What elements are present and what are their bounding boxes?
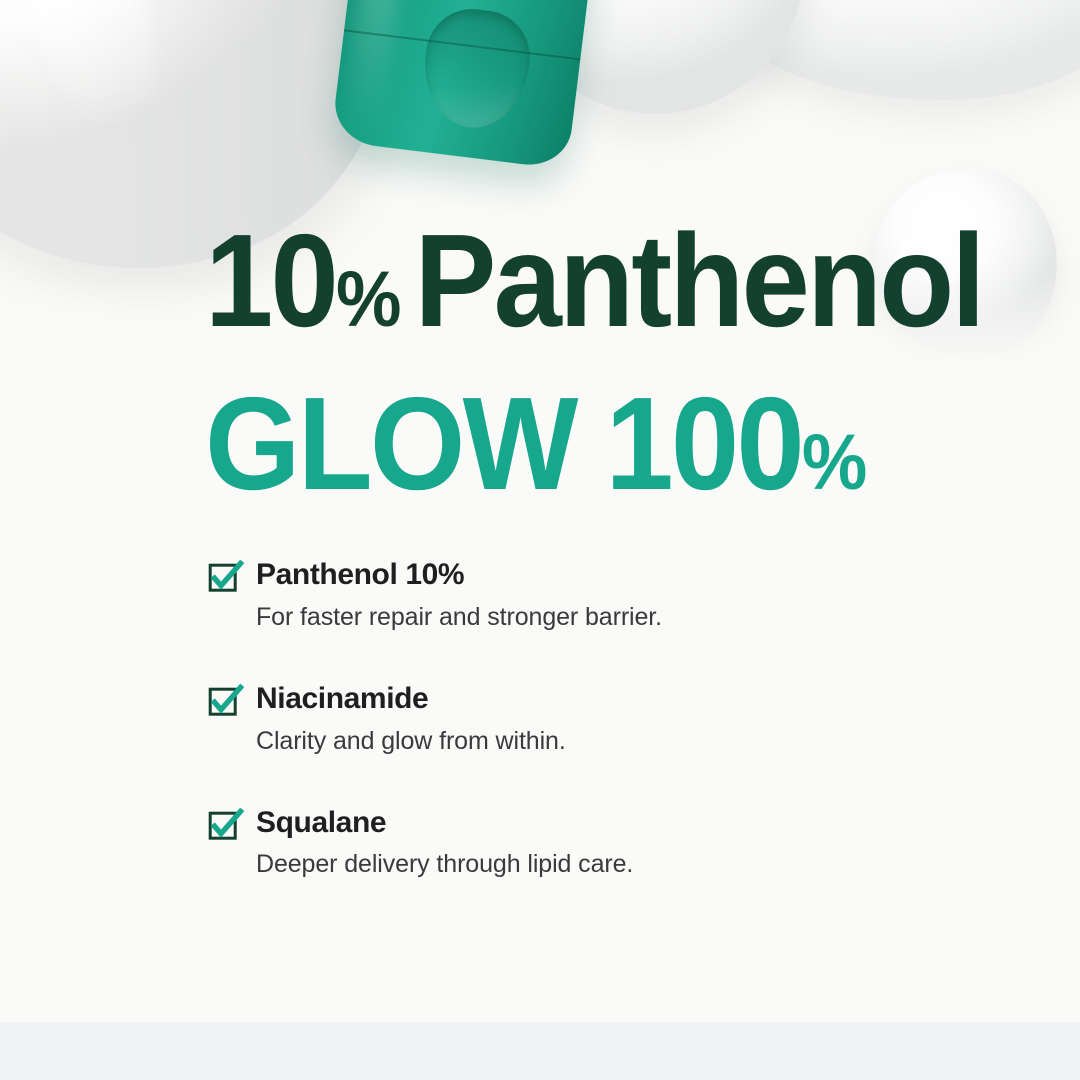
cap-thumb-dimple [418,4,536,134]
headline-number-10: 10 [205,207,336,354]
benefit-description: Deeper delivery through lipid care. [256,849,968,879]
benefit-item: Squalane Deeper delivery through lipid c… [208,806,968,880]
benefit-list: Panthenol 10% For faster repair and stro… [208,558,968,879]
green-flip-cap [331,0,598,170]
ad-canvas: 10%Panthenol GLOW100% Panthenol 10% For … [0,0,1080,1080]
checkbox-checked-icon [208,809,242,843]
headline-line-primary: 10%Panthenol [205,215,983,347]
benefit-title: Panthenol 10% [256,558,968,593]
benefit-description: For faster repair and stronger barrier. [256,602,968,632]
headline-percent-sign-2: % [802,417,866,506]
benefit-description: Clarity and glow from within. [256,726,968,756]
benefit-title: Niacinamide [256,682,968,717]
headline-word-panthenol: Panthenol [414,207,982,354]
benefit-title: Squalane [256,806,968,841]
headline-word-glow: GLOW [205,370,576,517]
cap-highlight [342,0,411,135]
benefit-item: Niacinamide Clarity and glow from within… [208,682,968,756]
headline-percent-sign-1: % [336,254,400,343]
headline-line-secondary: GLOW100% [205,378,866,510]
benefit-item: Panthenol 10% For faster repair and stro… [208,558,968,632]
checkbox-checked-icon [208,561,242,595]
headline-number-100: 100 [605,370,801,517]
checkbox-checked-icon [208,685,242,719]
bottom-band [0,1022,1080,1080]
